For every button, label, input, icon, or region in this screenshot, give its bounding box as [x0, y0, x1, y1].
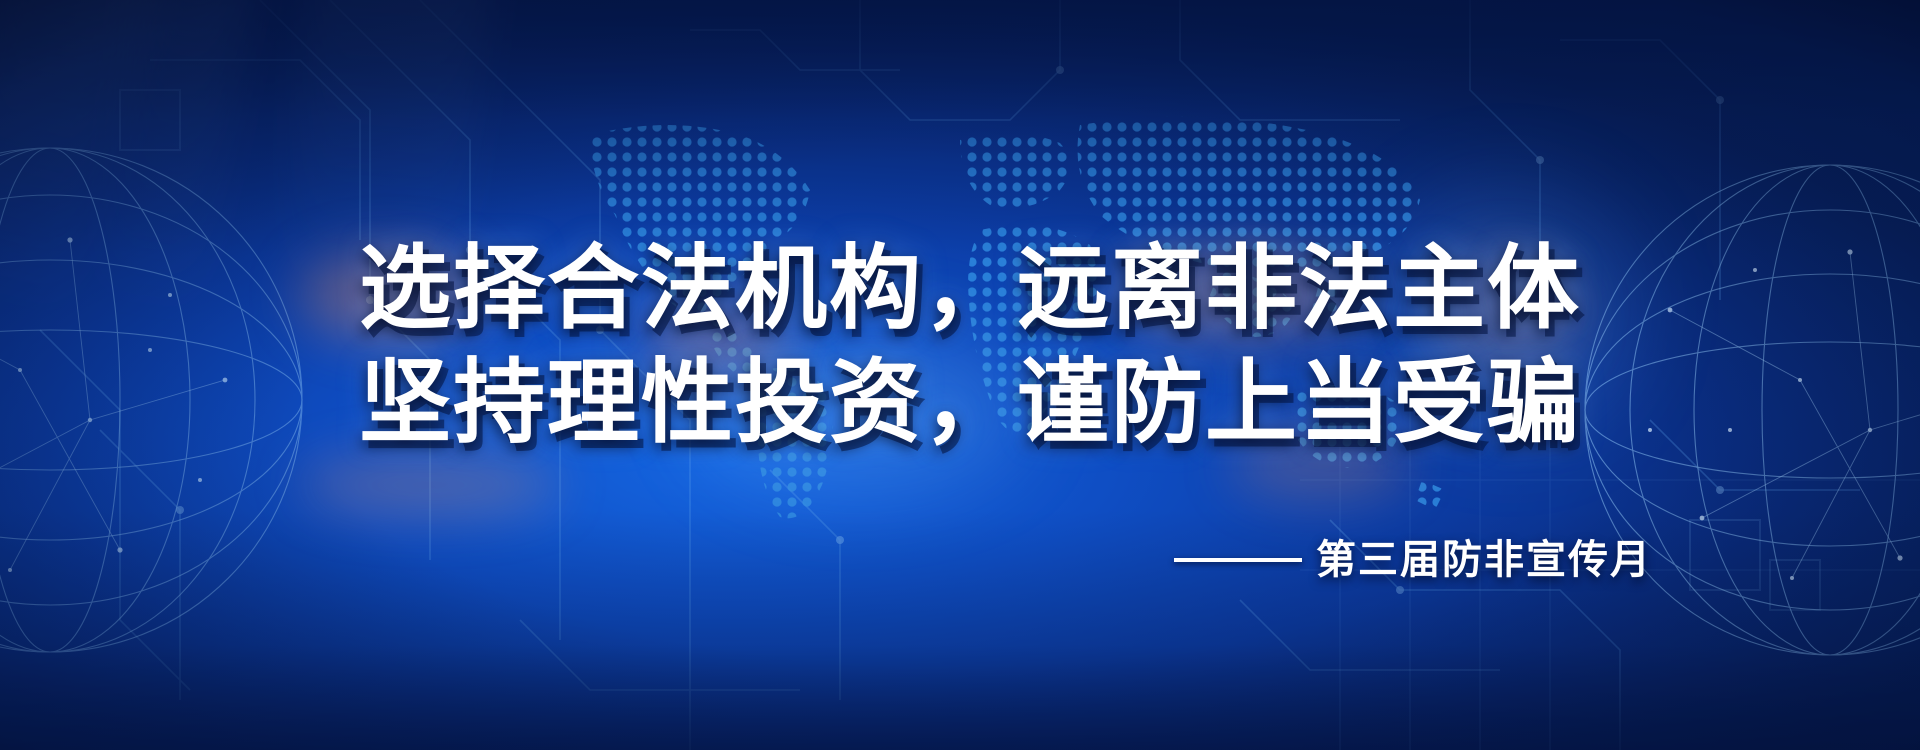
banner-content: 选择合法机构，远离非法主体 坚持理性投资，谨防上当受骗 第三届防非宣传月	[0, 0, 1920, 750]
headline-block: 选择合法机构，远离非法主体 坚持理性投资，谨防上当受骗	[0, 232, 1920, 460]
promo-banner: 选择合法机构，远离非法主体 坚持理性投资，谨防上当受骗 第三届防非宣传月	[0, 0, 1920, 750]
subtitle-text: 第三届防非宣传月	[1316, 536, 1652, 584]
headline-line-1: 选择合法机构，远离非法主体	[20, 232, 1920, 346]
subtitle-dash-rule	[1174, 558, 1302, 562]
headline-line-2: 坚持理性投资，谨防上当受骗	[20, 346, 1920, 460]
subtitle-block: 第三届防非宣传月	[1174, 536, 1652, 584]
